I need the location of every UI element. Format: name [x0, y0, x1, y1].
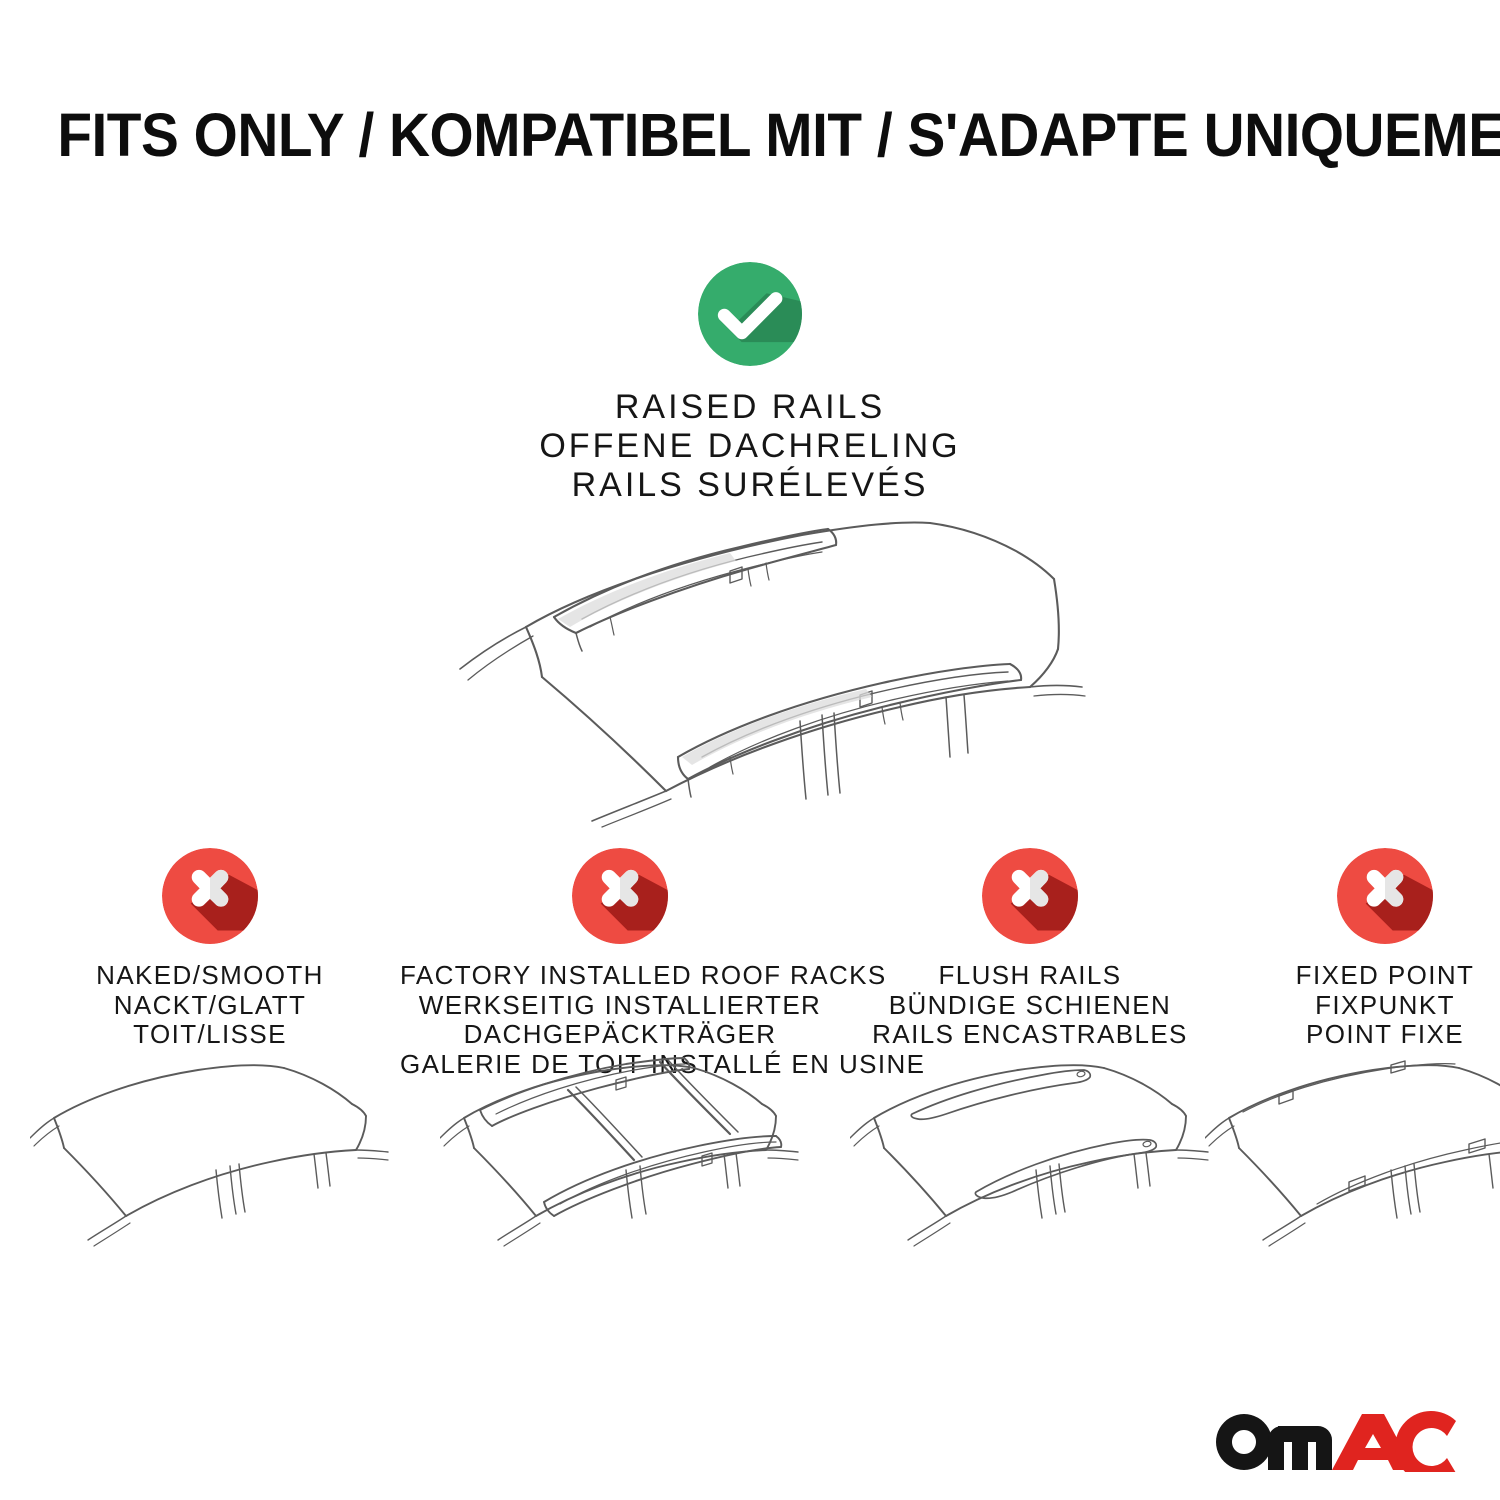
incompatible-caption-flush-rails: FLUSH RAILS BÜNDIGE SCHIENEN RAILS ENCAS…	[855, 961, 1205, 1050]
incompatible-caption-fixed-point: FIXED POINT FIXPUNKT POINT FIXE	[1225, 961, 1500, 1050]
page-title-text: FITS ONLY / KOMPATIBEL MIT / S'ADAPTE UN…	[57, 102, 1500, 168]
caption-line-de-1: WERKSEITIG INSTALLIERTER	[400, 991, 840, 1021]
cross-circle-icon	[572, 848, 668, 944]
omac-logo	[1210, 1408, 1458, 1472]
cross-circle-icon	[982, 848, 1078, 944]
car-roof-naked-smooth-illustration	[30, 1044, 390, 1284]
caption-line-de: FIXPUNKT	[1225, 991, 1500, 1021]
car-roof-fixed-point-illustration	[1205, 1044, 1500, 1284]
caption-line-de: BÜNDIGE SCHIENEN	[855, 991, 1205, 1021]
incompatible-item-fixed-point: FIXED POINT FIXPUNKT POINT FIXE	[1225, 848, 1500, 1050]
incompatible-item-flush-rails: FLUSH RAILS BÜNDIGE SCHIENEN RAILS ENCAS…	[855, 848, 1205, 1050]
car-roof-factory-rack-illustration	[440, 1044, 800, 1284]
car-roof-raised-rails-illustration	[430, 499, 1090, 829]
compatible-caption: RAISED RAILS OFFENE DACHRELING RAILS SUR…	[0, 388, 1500, 505]
page-title: FITS ONLY / KOMPATIBEL MIT / S'ADAPTE UN…	[0, 102, 1500, 168]
caption-line-en: FLUSH RAILS	[855, 961, 1205, 991]
compatible-caption-line-de: OFFENE DACHRELING	[0, 427, 1500, 466]
incompatible-section: NAKED/SMOOTH NACKT/GLATT TOIT/LISSE	[0, 848, 1500, 1488]
check-circle-icon	[698, 262, 802, 366]
caption-line-en: FACTORY INSTALLED ROOF RACKS	[400, 961, 840, 991]
incompatible-item-naked-smooth: NAKED/SMOOTH NACKT/GLATT TOIT/LISSE	[40, 848, 380, 1050]
compatible-caption-line-en: RAISED RAILS	[0, 388, 1500, 427]
incompatible-item-factory-rack: FACTORY INSTALLED ROOF RACKS WERKSEITIG …	[400, 848, 840, 1079]
cross-circle-icon	[162, 848, 258, 944]
cross-circle-icon	[1337, 848, 1433, 944]
caption-line-en: FIXED POINT	[1225, 961, 1500, 991]
incompatible-caption-naked-smooth: NAKED/SMOOTH NACKT/GLATT TOIT/LISSE	[40, 961, 380, 1050]
caption-line-en: NAKED/SMOOTH	[40, 961, 380, 991]
compatible-section: RAISED RAILS OFFENE DACHRELING RAILS SUR…	[0, 262, 1500, 505]
car-roof-flush-rails-illustration	[850, 1044, 1210, 1284]
caption-line-de: NACKT/GLATT	[40, 991, 380, 1021]
